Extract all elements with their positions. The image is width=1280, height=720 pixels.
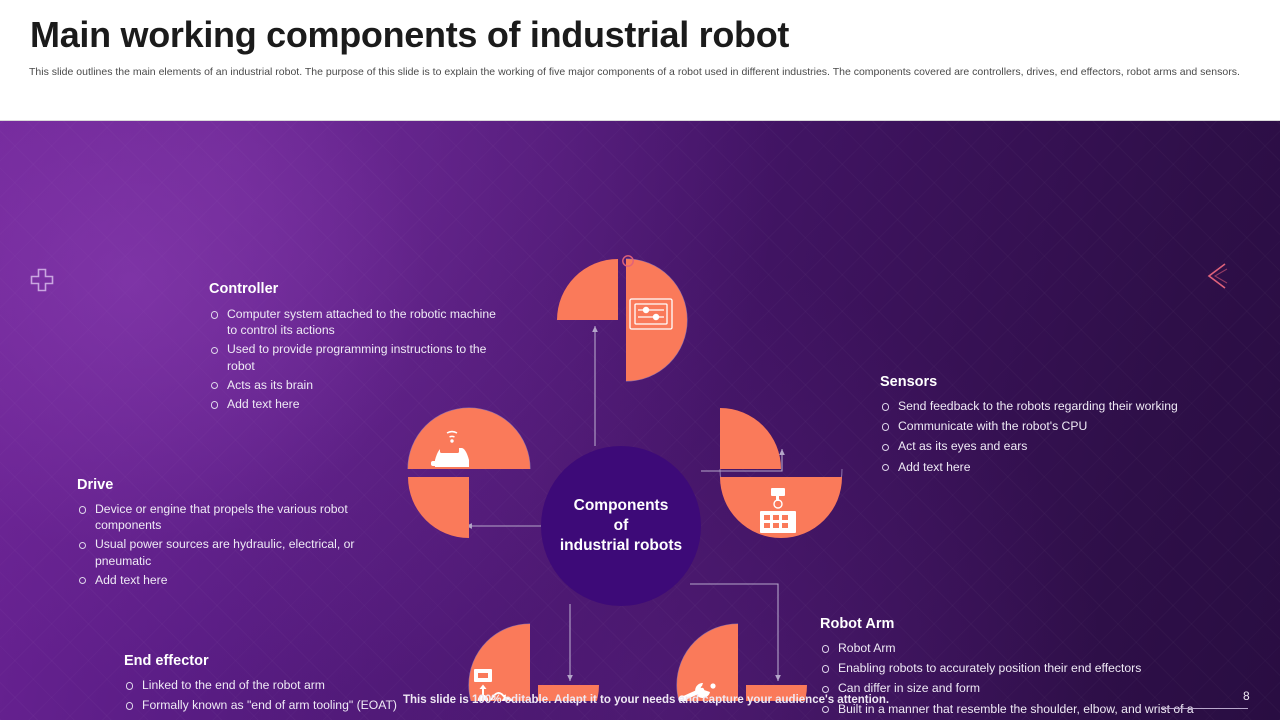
page-title: Main working components of industrial ro… xyxy=(30,14,789,56)
node-endeffector xyxy=(469,624,599,701)
center-label: Components of industrial robots xyxy=(560,496,682,556)
list-item: Device or engine that propels the variou… xyxy=(77,501,367,533)
list-item: Add text here xyxy=(209,396,509,412)
list-item: Acts as its brain xyxy=(209,377,509,393)
section-sensors: Sensors Send feedback to the robots rega… xyxy=(880,374,1220,479)
list-item: Linked to the end of the robot arm xyxy=(124,677,454,693)
node-sensors xyxy=(720,408,842,538)
drive-list: Device or engine that propels the variou… xyxy=(77,501,367,588)
list-item: Computer system attached to the robotic … xyxy=(209,306,509,338)
drive-heading: Drive xyxy=(77,477,367,493)
chevron-left-icon xyxy=(1203,261,1229,291)
list-item: Act as its eyes and ears xyxy=(880,438,1220,454)
section-end-effector: End effector Linked to the end of the ro… xyxy=(124,653,454,720)
node-drive xyxy=(408,408,530,538)
page-number: 8 xyxy=(1243,689,1250,703)
sensors-heading: Sensors xyxy=(880,374,1220,390)
list-item: Robot Arm xyxy=(820,640,1195,656)
list-item: Add text here xyxy=(77,572,367,588)
sensors-list: Send feedback to the robots regarding th… xyxy=(880,398,1220,475)
node-robotarm xyxy=(677,624,807,701)
slide-body: Components of industrial robots Controll… xyxy=(0,121,1280,720)
slide-header: Main working components of industrial ro… xyxy=(0,0,1280,121)
list-item: Add text here xyxy=(880,459,1220,475)
footer-note: This slide is 100% editable. Adapt it to… xyxy=(403,694,889,706)
page-subtitle: This slide outlines the main elements of… xyxy=(29,65,1242,80)
controller-list: Computer system attached to the robotic … xyxy=(209,306,509,412)
end-effector-heading: End effector xyxy=(124,653,454,669)
plus-outline-icon xyxy=(30,268,54,292)
list-item: Communicate with the robot's CPU xyxy=(880,418,1220,434)
robot-arm-list: Robot Arm Enabling robots to accurately … xyxy=(820,640,1195,720)
list-item: Send feedback to the robots regarding th… xyxy=(880,398,1220,414)
section-controller: Controller Computer system attached to t… xyxy=(209,281,509,415)
section-drive: Drive Device or engine that propels the … xyxy=(77,477,367,591)
list-item: Enabling robots to accurately position t… xyxy=(820,660,1195,676)
controller-heading: Controller xyxy=(209,281,509,297)
center-node: Components of industrial robots xyxy=(541,446,701,606)
list-item: Used to provide programming instructions… xyxy=(209,341,509,373)
page-number-rule xyxy=(1162,708,1248,709)
components-diagram: Components of industrial robots xyxy=(390,181,890,701)
list-item: Usual power sources are hydraulic, elect… xyxy=(77,536,367,568)
robot-arm-heading: Robot Arm xyxy=(820,616,1195,632)
